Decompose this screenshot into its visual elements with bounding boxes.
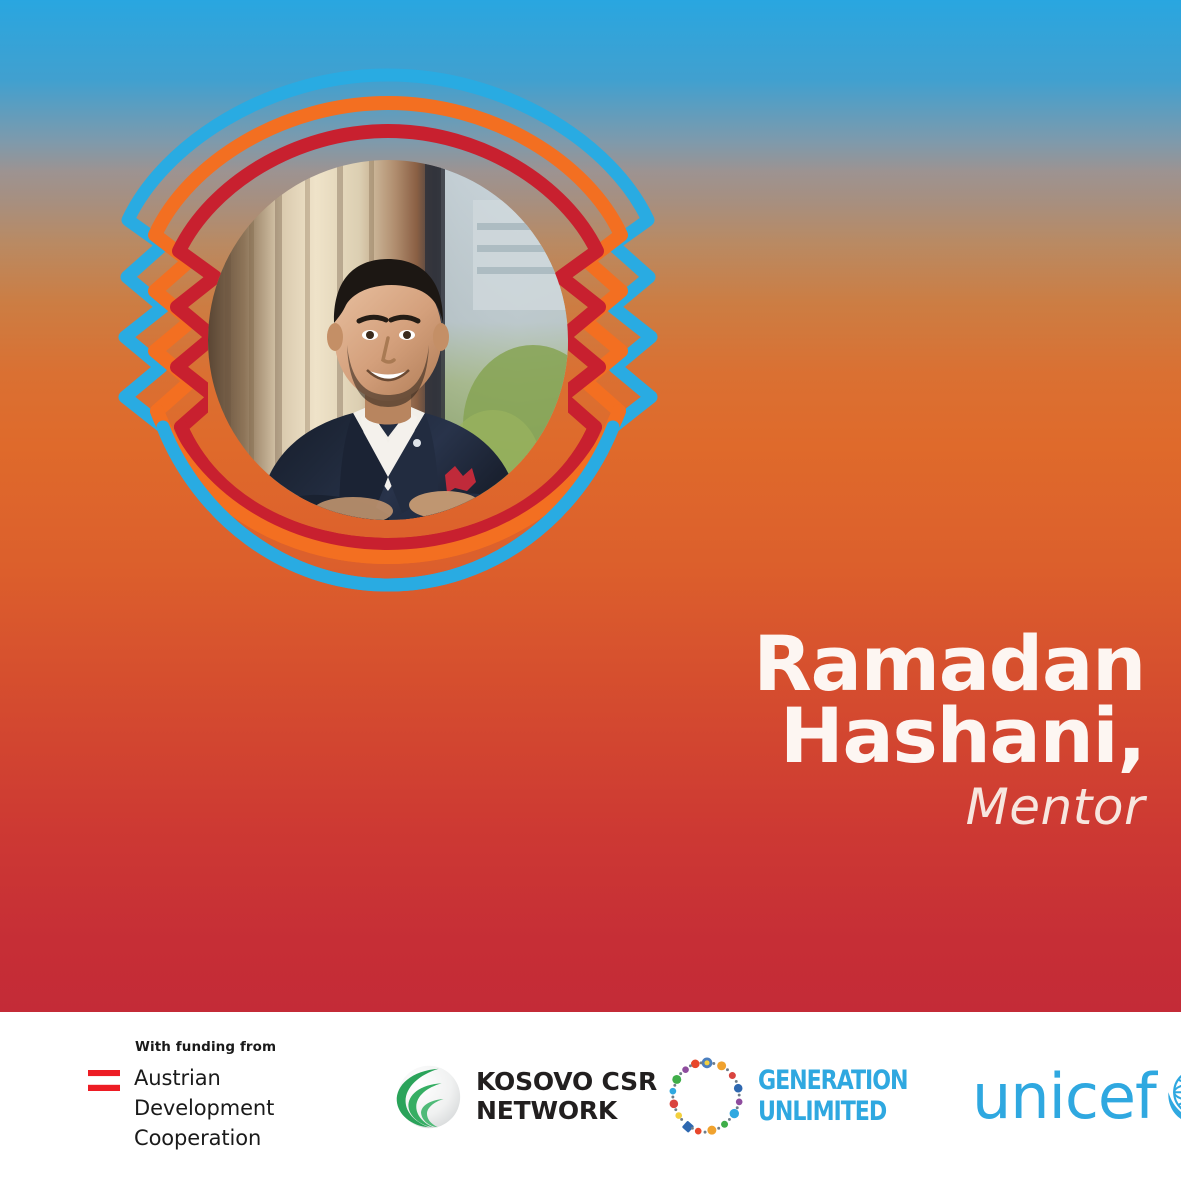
genu-line-1: GENERATION — [758, 1066, 907, 1096]
poster: Ramadan Hashani, Mentor With funding fro… — [0, 0, 1181, 1181]
unicef-wordmark: unicef — [972, 1066, 1156, 1128]
kcsr-line-1: KOSOVO CSR — [476, 1068, 657, 1097]
generation-unlimited-ring-icon — [668, 1056, 746, 1138]
kcsr-line-2: NETWORK — [476, 1097, 657, 1126]
logo-generation-unlimited: GENERATION UNLIMITED — [668, 1056, 958, 1138]
portrait-photo — [208, 160, 603, 525]
kosovo-csr-swoosh-icon — [388, 1058, 466, 1136]
adc-line-3: Cooperation — [134, 1124, 274, 1154]
adc-kicker: With funding from — [135, 1039, 276, 1055]
role-label: Mentor — [385, 782, 1145, 832]
logo-kosovo-csr-network: KOSOVO CSR NETWORK — [388, 1058, 668, 1136]
first-name: Ramadan — [385, 628, 1145, 700]
austria-flag-icon — [88, 1070, 120, 1091]
portrait-badge — [53, 45, 728, 685]
partner-logo-footer: With funding from Austrian Development C… — [0, 1012, 1181, 1181]
logo-austrian-development-cooperation: With funding from Austrian Development C… — [48, 1039, 388, 1153]
speaker-name-block: Ramadan Hashani, Mentor — [385, 628, 1145, 832]
unicef-globe-emblem-icon — [1158, 1059, 1181, 1135]
last-name: Hashani, — [385, 700, 1145, 772]
adc-line-2: Development — [134, 1094, 274, 1124]
genu-line-2: UNLIMITED — [758, 1097, 907, 1127]
adc-line-1: Austrian — [134, 1064, 274, 1094]
logo-unicef: unicef — [958, 1059, 1181, 1135]
